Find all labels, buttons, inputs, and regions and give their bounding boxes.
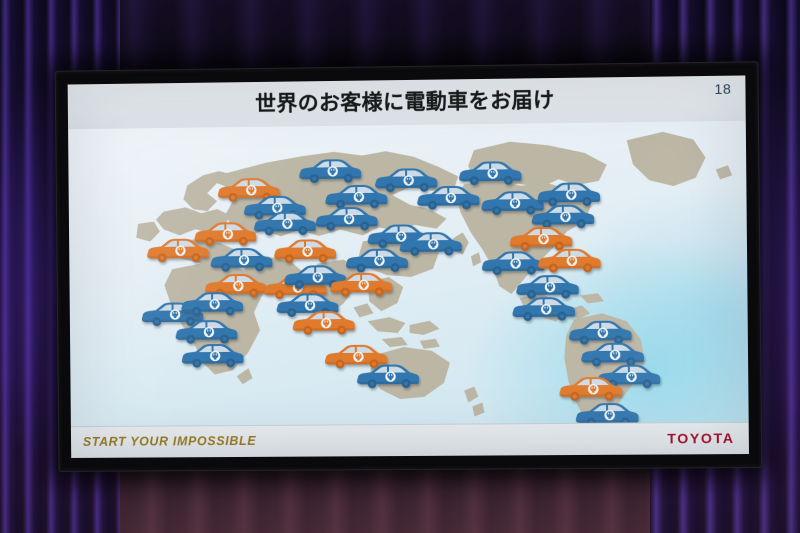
presentation-slide: 世界のお客様に電動車をお届け 18 bbox=[68, 75, 749, 458]
toyota-logo-wordmark: TOYOTA bbox=[667, 430, 735, 447]
slide-footer: START YOUR IMPOSSIBLE TOYOTA bbox=[71, 422, 749, 458]
slide-body bbox=[68, 121, 749, 427]
car-icon-blue bbox=[180, 288, 244, 318]
car-icon-orange bbox=[146, 235, 210, 265]
car-icon-blue bbox=[356, 361, 420, 391]
slide-page-number: 18 bbox=[714, 81, 731, 97]
car-icon-blue bbox=[458, 158, 522, 189]
projection-screen: 世界のお客様に電動車をお届け 18 bbox=[55, 61, 763, 472]
car-icon-orange bbox=[292, 307, 356, 337]
brand-tagline: START YOUR IMPOSSIBLE bbox=[83, 434, 257, 449]
car-icon-blue bbox=[511, 293, 576, 324]
car-icon-blue bbox=[253, 208, 317, 239]
car-icon-blue bbox=[399, 228, 463, 259]
car-icon-blue bbox=[181, 340, 245, 370]
screenshot-stage: 世界のお客様に電動車をお届け 18 bbox=[0, 0, 800, 533]
electrified-vehicle-icons bbox=[68, 121, 749, 427]
page-title: 世界のお客様に電動車をお届け bbox=[68, 81, 746, 120]
